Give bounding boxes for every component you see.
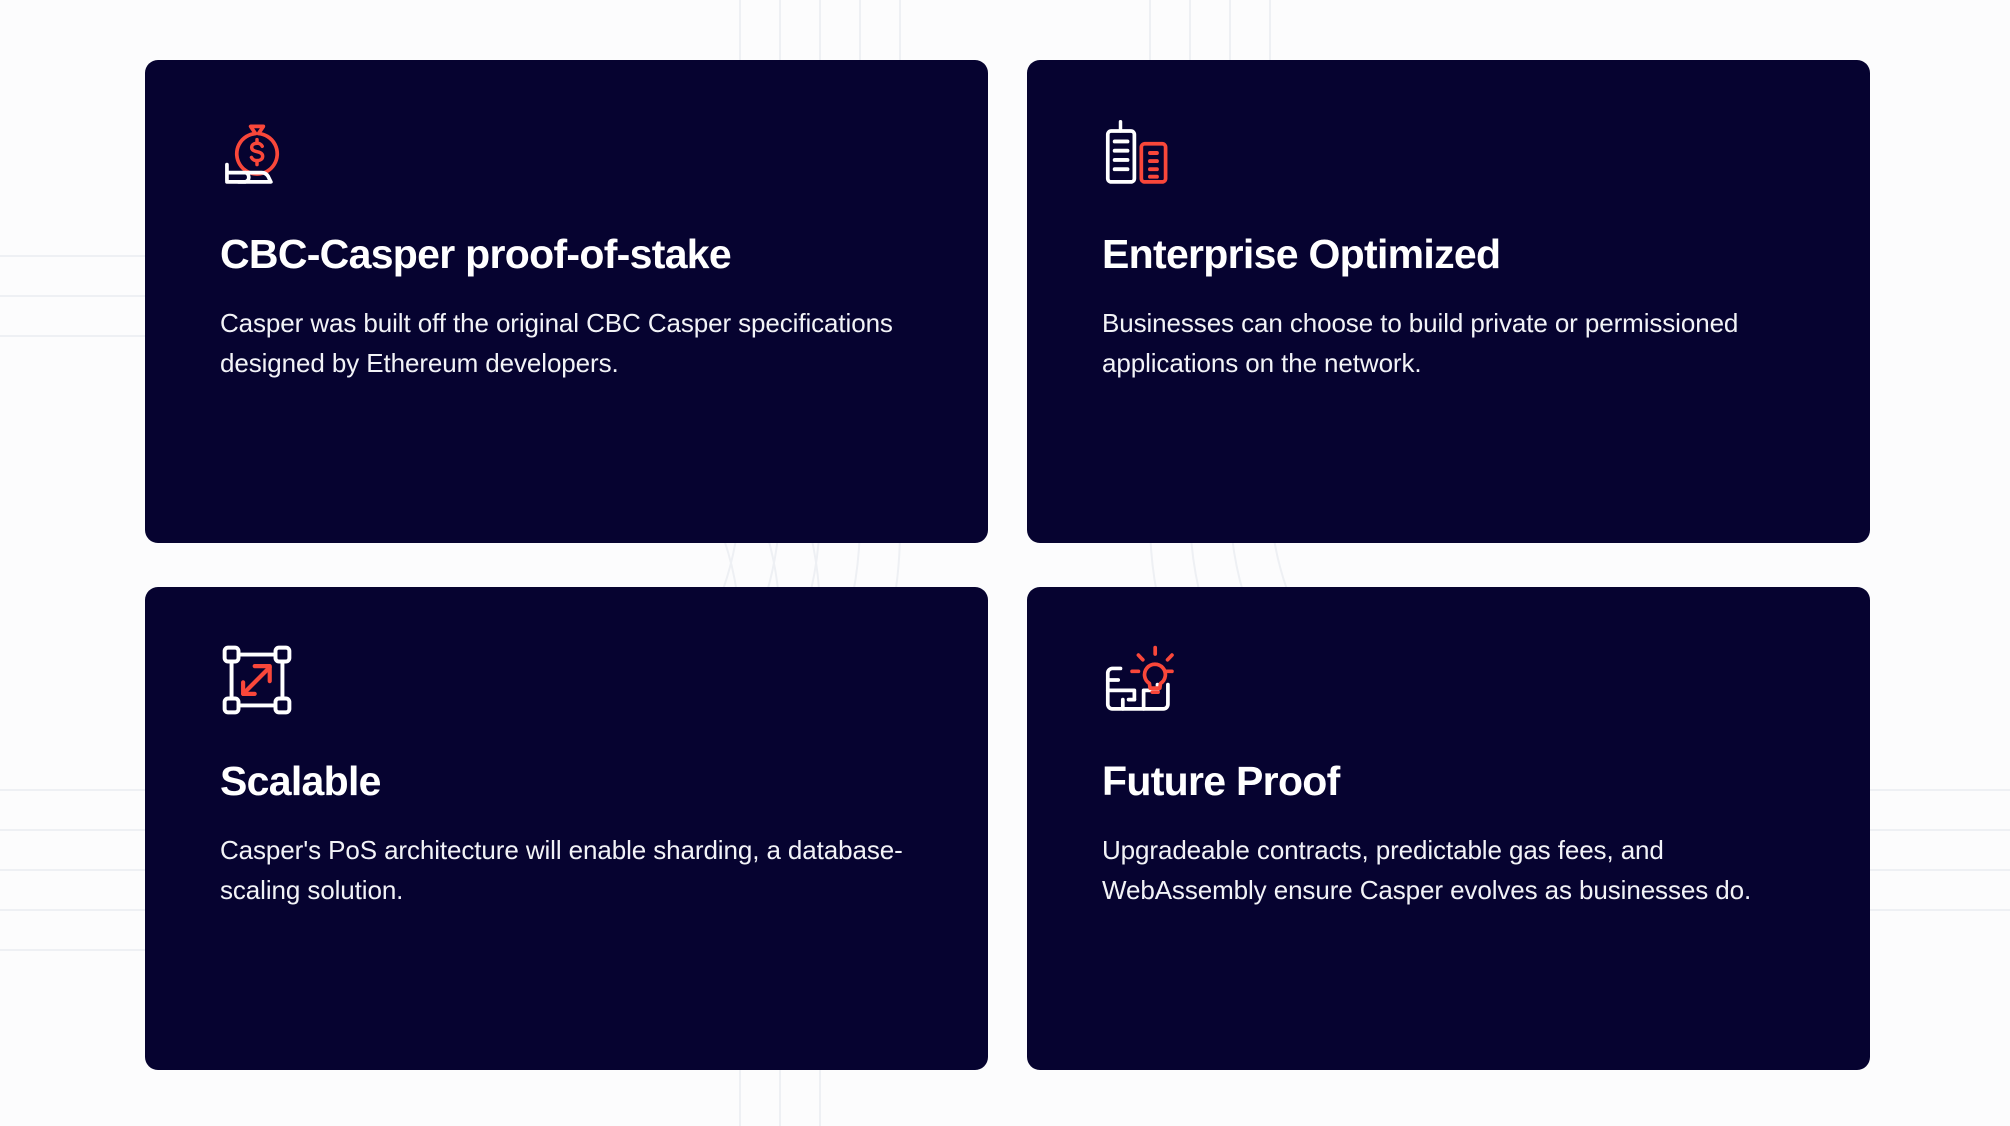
- expand-arrow-frame-icon: [220, 643, 294, 717]
- card-title: Scalable: [220, 759, 913, 805]
- card-title: CBC-Casper proof-of-stake: [220, 232, 913, 278]
- feature-card-future-proof[interactable]: Future Proof Upgradeable contracts, pred…: [1027, 587, 1870, 1070]
- card-description: Casper's PoS architecture will enable sh…: [220, 831, 910, 911]
- card-description: Upgradeable contracts, predictable gas f…: [1102, 831, 1792, 911]
- money-bag-in-hand-icon: [220, 116, 294, 190]
- card-title: Enterprise Optimized: [1102, 232, 1795, 278]
- feature-card-scalable[interactable]: Scalable Casper's PoS architecture will …: [145, 587, 988, 1070]
- office-buildings-icon: [1102, 116, 1176, 190]
- card-description: Businesses can choose to build private o…: [1102, 304, 1792, 384]
- card-description: Casper was built off the original CBC Ca…: [220, 304, 910, 384]
- blueprint-lightbulb-icon: [1102, 643, 1176, 717]
- feature-card-cbc-casper-proof-of-stake[interactable]: CBC-Casper proof-of-stake Casper was bui…: [145, 60, 988, 543]
- card-title: Future Proof: [1102, 759, 1795, 805]
- feature-card-enterprise-optimized[interactable]: Enterprise Optimized Businesses can choo…: [1027, 60, 1870, 543]
- feature-card-grid: CBC-Casper proof-of-stake Casper was bui…: [145, 60, 1870, 1070]
